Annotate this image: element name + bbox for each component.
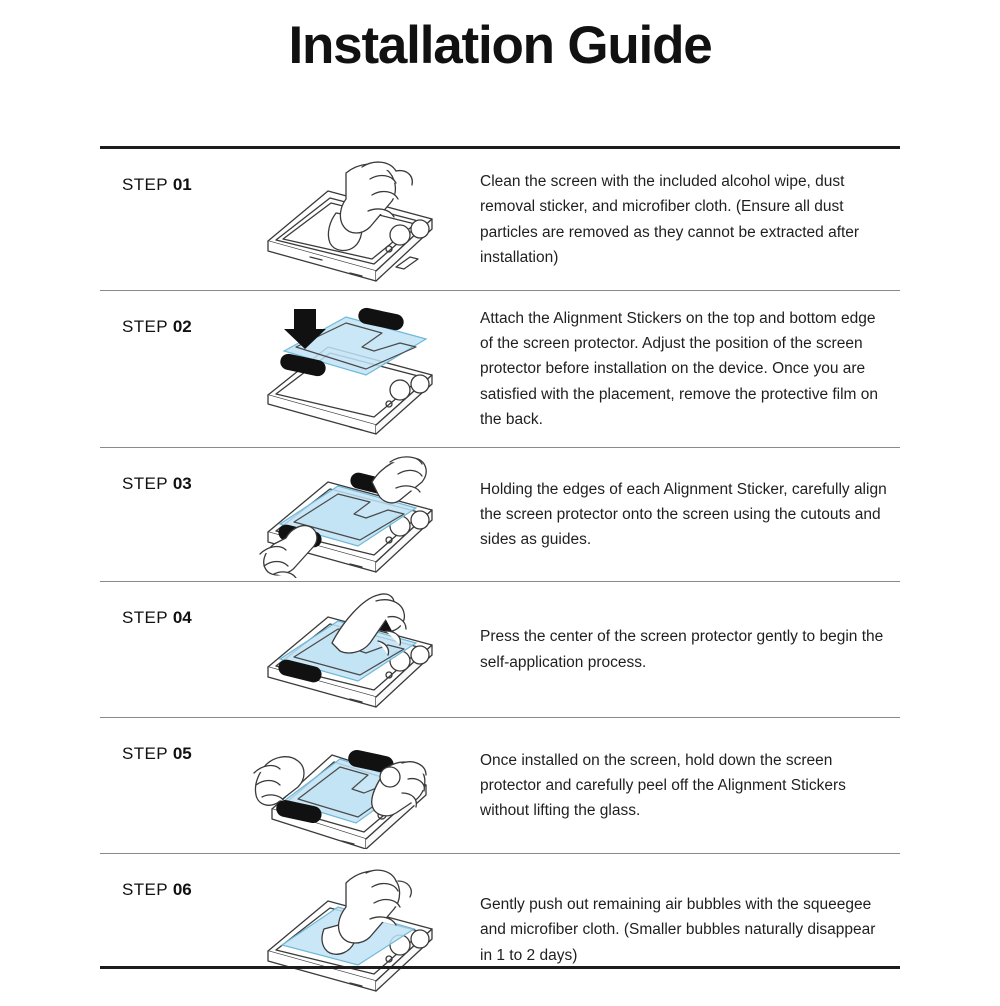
step-text-06: Gently push out remaining air bubbles wi… xyxy=(460,892,900,967)
step-row: STEP 05 xyxy=(100,718,900,854)
step-number: 06 xyxy=(173,880,192,899)
step-label-prefix: STEP xyxy=(122,744,168,763)
step-illustration-02 xyxy=(240,303,460,435)
step-text-05: Once installed on the screen, hold down … xyxy=(460,748,900,823)
step-illustration-05 xyxy=(240,723,460,849)
steps-list: STEP 01 xyxy=(100,149,900,1006)
step-row: STEP 06 xyxy=(100,854,900,1006)
step-text-03: Holding the edges of each Alignment Stic… xyxy=(460,477,900,552)
phone-clean-with-cloth-icon xyxy=(250,157,450,283)
step-row: STEP 01 xyxy=(100,149,900,291)
step-text-02: Attach the Alignment Stickers on the top… xyxy=(460,306,900,432)
step-label-04: STEP 04 xyxy=(100,582,240,628)
step-label-01: STEP 01 xyxy=(100,149,240,195)
step-illustration-06 xyxy=(240,865,460,995)
step-text-04: Press the center of the screen protector… xyxy=(460,624,900,674)
step-text-01: Clean the screen with the included alcoh… xyxy=(460,169,900,269)
step-label-prefix: STEP xyxy=(122,608,168,627)
phone-align-protector-two-hands-icon xyxy=(250,452,450,578)
step-row: STEP 03 xyxy=(100,448,900,582)
step-label-05: STEP 05 xyxy=(100,718,240,764)
phone-squeegee-push-bubbles-icon xyxy=(250,865,450,995)
step-number: 05 xyxy=(173,744,192,763)
step-label-prefix: STEP xyxy=(122,317,168,336)
divider-bottom xyxy=(100,966,900,969)
step-label-02: STEP 02 xyxy=(100,291,240,337)
page-title: Installation Guide xyxy=(0,16,1000,77)
step-row: STEP 02 xyxy=(100,291,900,448)
phone-attach-alignment-stickers-with-arrow-icon xyxy=(250,303,450,435)
step-label-prefix: STEP xyxy=(122,474,168,493)
step-label-prefix: STEP xyxy=(122,175,168,194)
step-illustration-04 xyxy=(240,587,460,713)
step-number: 01 xyxy=(173,175,192,194)
step-row: STEP 04 xyxy=(100,582,900,718)
step-illustration-01 xyxy=(240,157,460,283)
phone-peel-alignment-stickers-icon xyxy=(250,723,450,849)
step-number: 02 xyxy=(173,317,192,336)
installation-guide-page: Installation Guide STEP 01 xyxy=(0,0,1000,1000)
step-illustration-03 xyxy=(240,452,460,578)
step-number: 04 xyxy=(173,608,192,627)
step-label-03: STEP 03 xyxy=(100,448,240,494)
step-label-06: STEP 06 xyxy=(100,854,240,900)
phone-press-center-finger-icon xyxy=(250,587,450,713)
step-number: 03 xyxy=(173,474,192,493)
step-label-prefix: STEP xyxy=(122,880,168,899)
